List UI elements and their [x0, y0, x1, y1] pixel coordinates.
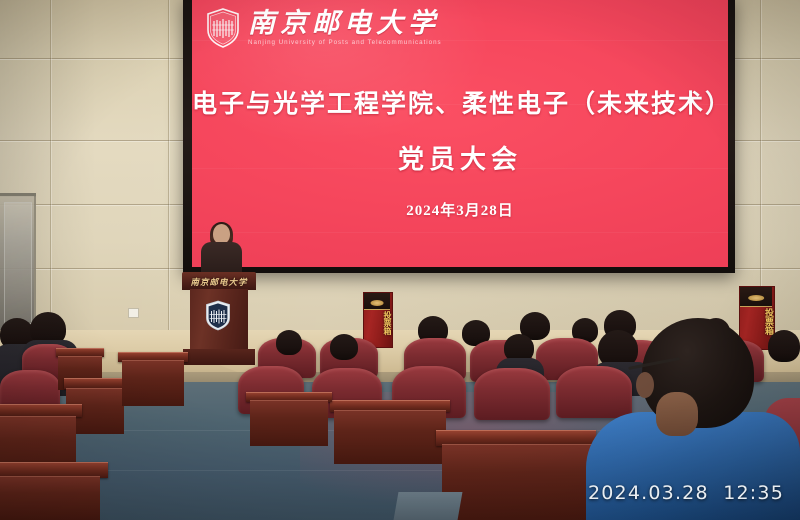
foreground-attendee-hand — [656, 392, 698, 436]
wall-seam-vertical — [50, 0, 51, 330]
podium-lectern-top: 南京邮电大学 — [182, 272, 256, 290]
ballot-box-label: 投票箱 — [739, 308, 773, 335]
laptop-screen — [394, 492, 463, 520]
university-wordmark: 南京邮电大学 Nanjing University of Posts and T… — [248, 10, 442, 46]
auditorium-photograph: 南京邮电大学 Nanjing University of Posts and T… — [0, 0, 800, 520]
podium-shield-icon — [205, 300, 231, 331]
wall-seam-vertical — [760, 0, 761, 330]
ballot-box-emblem-icon — [748, 295, 764, 301]
podium-base — [183, 349, 255, 365]
wall-outlet — [128, 308, 139, 318]
university-lockup: 南京邮电大学 Nanjing University of Posts and T… — [206, 8, 442, 48]
glass-door — [0, 196, 36, 330]
camera-timestamp-watermark: 2024.03.28 12:35 — [588, 482, 784, 504]
ballot-box-label: 投票箱 — [363, 311, 391, 335]
speaker-head — [213, 224, 230, 244]
ballot-box-left: 投票箱 — [363, 292, 391, 346]
slide-date: 2024年3月28日 — [192, 199, 728, 220]
slide-title: 电子与光学工程学院、柔性电子（未来技术）学院 — [192, 84, 728, 120]
led-presentation-screen: 南京邮电大学 Nanjing University of Posts and T… — [192, 0, 728, 267]
speaker-podium: 南京邮电大学 — [186, 272, 252, 364]
ballot-box-emblem-icon — [371, 300, 384, 306]
wall-seam-vertical — [168, 0, 169, 330]
ballot-box-right: 投票箱 — [739, 286, 773, 348]
foreground-attendee-ear — [636, 372, 654, 398]
slide-subtitle: 党员大会 — [192, 139, 728, 176]
university-shield-icon — [206, 8, 240, 48]
university-name-en: Nanjing University of Posts and Telecomm… — [248, 40, 442, 46]
university-name-cn: 南京邮电大学 — [248, 10, 442, 37]
podium-university-name: 南京邮电大学 — [182, 276, 256, 288]
